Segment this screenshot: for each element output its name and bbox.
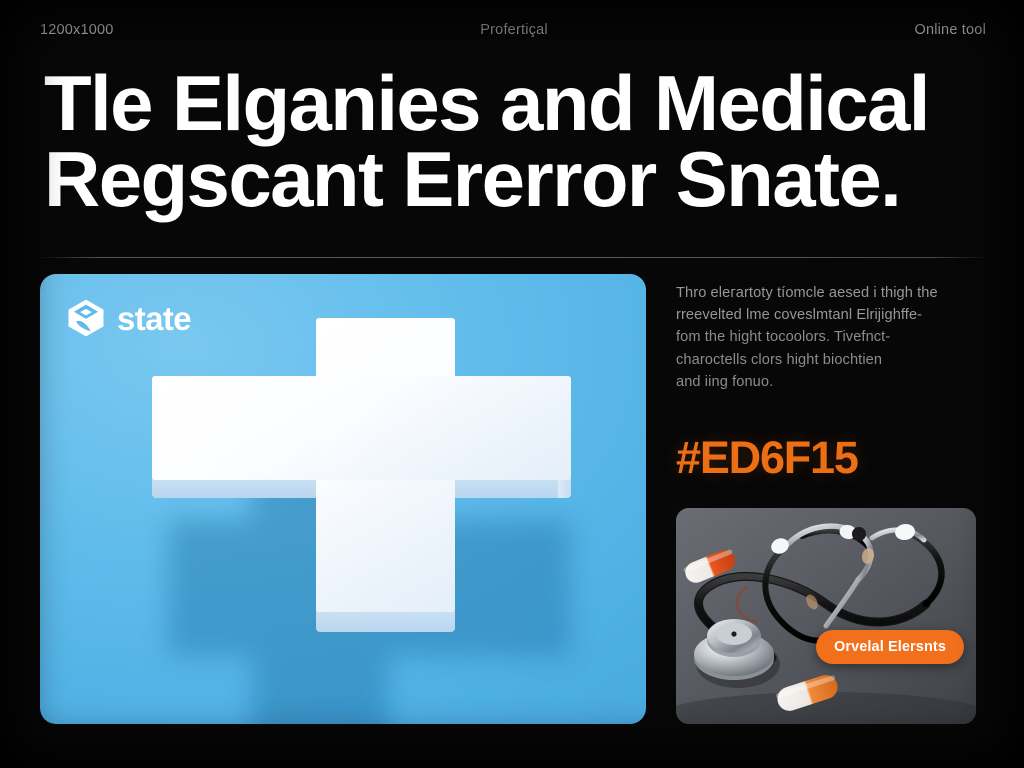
dimensions-label: 1200x1000 [40,22,114,38]
poster-canvas: 1200x1000 Profertiçal Online tool Tle El… [0,0,1024,768]
headline-line-2: Regscant Ererror Snate. [44,142,980,218]
stethoscope-illustration [676,508,976,724]
horizontal-divider [40,257,986,258]
center-meta-label: Profertiçal [114,22,915,38]
cube-box-logo-icon [66,298,106,338]
body-paragraph: Thro eleгartoty tíomcle aesed i thigh th… [676,282,976,393]
body-line-5: and iing fonuo. [676,371,976,393]
headline-line-1: Tle Elganies and Medical [44,66,980,142]
brand-name: state [117,302,191,335]
top-meta-row: 1200x1000 Profertiçal Online tool [40,18,986,42]
hex-color-code: #ED6F15 [676,432,858,484]
brand-lockup: state [66,298,191,338]
medical-cross-illustration [40,274,646,724]
overall-elements-button[interactable]: Orvelal Elersnts [816,630,964,664]
cross-top-face-horizontal [152,376,571,480]
body-line-4: charoctells clors hight biochtien [676,349,976,371]
online-tool-label: Online tool [914,22,986,38]
body-line-2: rreevelted lme coveslmtanl Elrijighffe- [676,304,976,326]
body-line-1: Thro eleгartoty tíomcle aesed i thigh th… [676,282,976,304]
page-title: Tle Elganies and Medical Regscant Ererro… [44,66,980,217]
stethoscope-photo-card: Orvelal Elersnts [676,508,976,724]
hero-image-card: state [40,274,646,724]
body-line-3: fom the hight tocoolors. Tivefnct- [676,326,976,348]
